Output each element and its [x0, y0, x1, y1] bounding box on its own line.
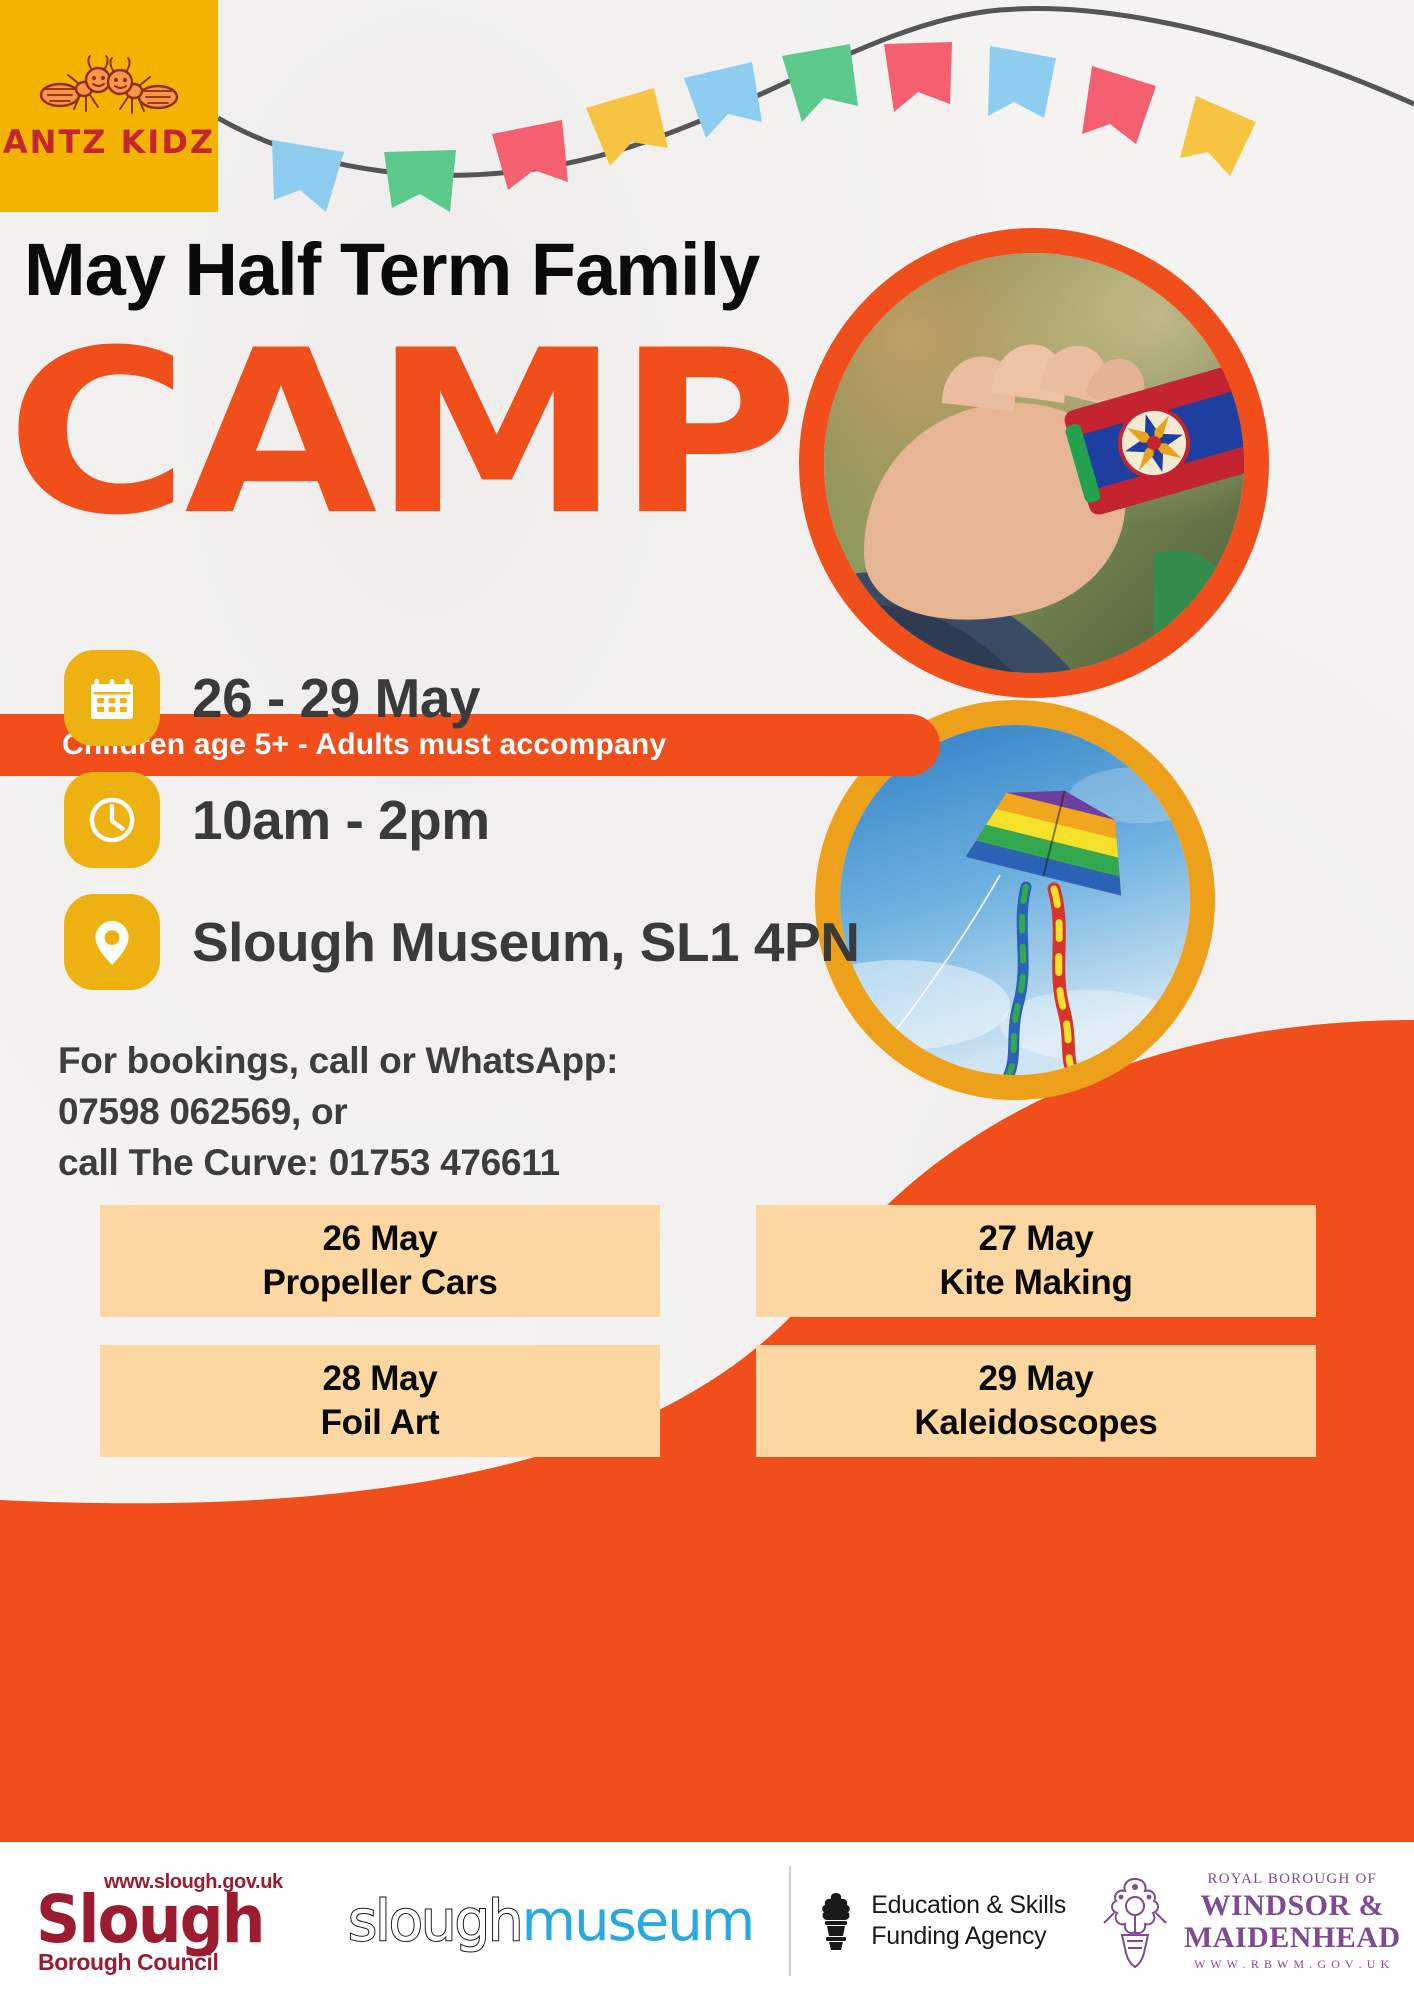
slough-borough-council-logo: www.slough.gov.uk Slough Borough Council [36, 1867, 306, 1975]
royal-crown-icon [813, 1890, 859, 1952]
activity-card[interactable]: 26 May Propeller Cars [100, 1205, 660, 1317]
info-time-text: 10am - 2pm [192, 788, 490, 852]
activity-card[interactable]: 27 May Kite Making [756, 1205, 1316, 1317]
booking-instructions: For bookings, call or WhatsApp: 07598 06… [58, 1035, 618, 1188]
activity-card[interactable]: 28 May Foil Art [100, 1345, 660, 1457]
activity-schedule: 26 May Propeller Cars 27 May Kite Making… [100, 1205, 1316, 1457]
slough-council-name: Slough [36, 1881, 264, 1958]
activity-name: Kaleidoscopes [914, 1403, 1157, 1443]
activity-card[interactable]: 29 May Kaleidoscopes [756, 1345, 1316, 1457]
rbwm-text-block: ROYAL BOROUGH OF WINDSOR & MAIDENHEAD W … [1184, 1871, 1401, 1972]
page-title: May Half Term Family [24, 228, 759, 312]
rbwm-line2: WINDSOR & MAIDENHEAD [1184, 1890, 1401, 1954]
rbwm-line3: W W W . R B W M . G O V . U K [1184, 1957, 1401, 1972]
activity-date: 28 May [323, 1359, 438, 1399]
info-row-dates: 26 - 29 May [64, 650, 480, 746]
rbwm-logo: ROYAL BOROUGH OF WINDSOR & MAIDENHEAD W … [1096, 1871, 1401, 1972]
esfa-logo: Education & Skills Funding Agency [813, 1890, 1066, 1952]
slough-museum-word2: museum [522, 1889, 754, 1954]
activity-name: Kite Making [939, 1263, 1132, 1303]
rbwm-line1: ROYAL BOROUGH OF [1184, 1871, 1401, 1888]
footer-logos: www.slough.gov.uk Slough Borough Council… [0, 1842, 1414, 2000]
location-pin-icon [64, 894, 160, 990]
esfa-label: Education & Skills Funding Agency [871, 1890, 1066, 1952]
poster-root: ANTZ KIDZ May Half Term Family CAMP Chil… [0, 0, 1414, 2000]
antz-kidz-logo: ANTZ KIDZ [0, 0, 218, 212]
calendar-icon [64, 650, 160, 746]
footer-divider [789, 1866, 791, 1976]
antz-kidz-wordmark: ANTZ KIDZ [3, 123, 215, 161]
info-row-time: 10am - 2pm [64, 772, 490, 868]
info-location-text: Slough Museum, SL1 4PN [192, 910, 859, 974]
rbwm-crest-icon [1096, 1873, 1174, 1969]
child-with-kaleidoscope-photo [799, 228, 1269, 698]
activity-date: 27 May [979, 1219, 1094, 1259]
clock-icon [64, 772, 160, 868]
activity-name: Foil Art [321, 1403, 440, 1443]
slough-council-sub: Borough Council [38, 1949, 219, 1976]
activity-date: 29 May [979, 1359, 1094, 1399]
info-row-location: Slough Museum, SL1 4PN [64, 894, 859, 990]
slough-museum-logo: sloughmuseum [348, 1889, 753, 1954]
info-dates-text: 26 - 29 May [192, 666, 480, 730]
activity-name: Propeller Cars [262, 1263, 497, 1303]
slough-museum-word1: slough [348, 1889, 522, 1954]
headline-camp: CAMP [6, 320, 794, 546]
activity-date: 26 May [323, 1219, 438, 1259]
two-ants-icon [34, 51, 184, 121]
